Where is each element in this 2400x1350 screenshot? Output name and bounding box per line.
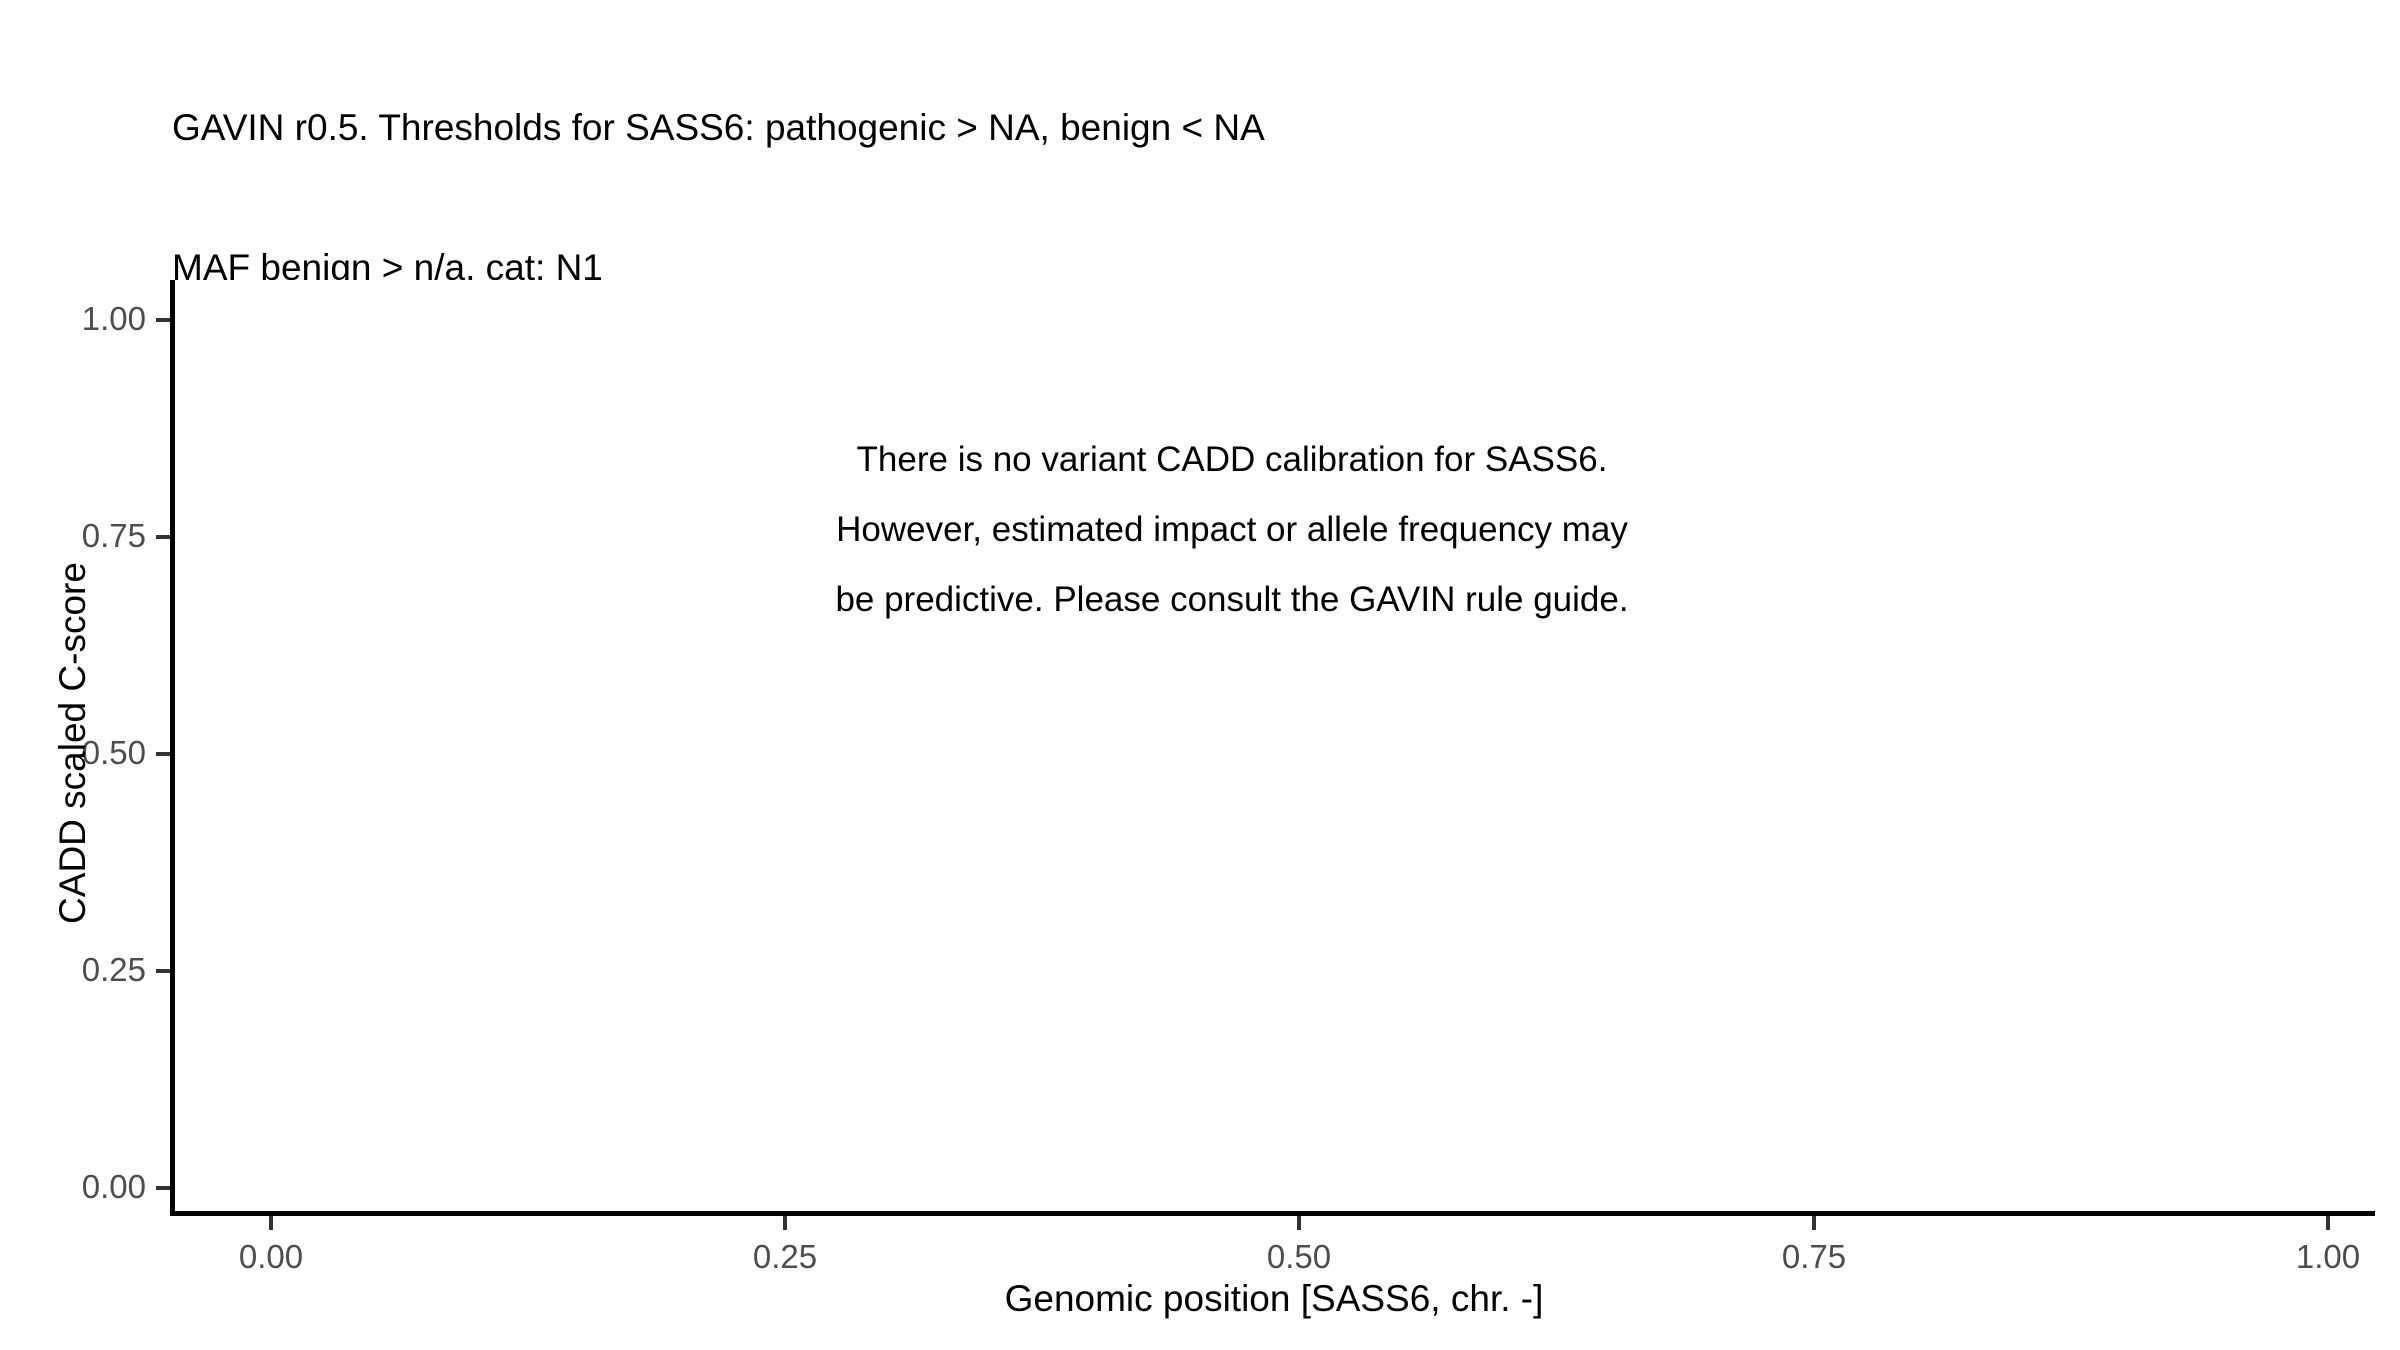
plot-canvas: GAVIN r0.5. Thresholds for SASS6: pathog… bbox=[0, 0, 2400, 1350]
annotation-line-1: There is no variant CADD calibration for… bbox=[522, 425, 1942, 495]
annotation-line-2: However, estimated impact or allele freq… bbox=[522, 495, 1942, 565]
x-axis-ticklabel-4: 1.00 bbox=[2248, 1238, 2400, 1276]
y-axis-title: CADD scaled C-score bbox=[52, 273, 94, 1213]
x-axis-line bbox=[170, 1211, 2375, 1216]
y-axis-tick-1.00 bbox=[156, 318, 170, 322]
no-calibration-annotation: There is no variant CADD calibration for… bbox=[522, 425, 1942, 635]
x-axis-tick-0.00 bbox=[269, 1216, 273, 1230]
x-axis-tick-0.25 bbox=[783, 1216, 787, 1230]
y-axis-tick-0.50 bbox=[156, 752, 170, 756]
x-axis-ticklabel-2: 0.50 bbox=[1219, 1238, 1379, 1276]
x-axis-title: Genomic position [SASS6, chr. -] bbox=[173, 1278, 2375, 1320]
x-axis-tick-0.50 bbox=[1297, 1216, 1301, 1230]
y-axis-tick-0.25 bbox=[156, 969, 170, 973]
x-axis-ticklabel-0: 0.00 bbox=[191, 1238, 351, 1276]
y-axis-tick-0.00 bbox=[156, 1186, 170, 1190]
x-axis-ticklabel-1: 0.25 bbox=[705, 1238, 865, 1276]
annotation-line-3: be predictive. Please consult the GAVIN … bbox=[522, 565, 1942, 635]
y-axis-line bbox=[170, 280, 175, 1216]
plot-panel bbox=[173, 280, 2375, 1213]
x-axis-tick-0.75 bbox=[1812, 1216, 1816, 1230]
y-axis-tick-0.75 bbox=[156, 535, 170, 539]
plot-title-line-1: GAVIN r0.5. Thresholds for SASS6: pathog… bbox=[172, 105, 2272, 152]
x-axis-ticklabel-3: 0.75 bbox=[1734, 1238, 1894, 1276]
x-axis-tick-1.00 bbox=[2326, 1216, 2330, 1230]
